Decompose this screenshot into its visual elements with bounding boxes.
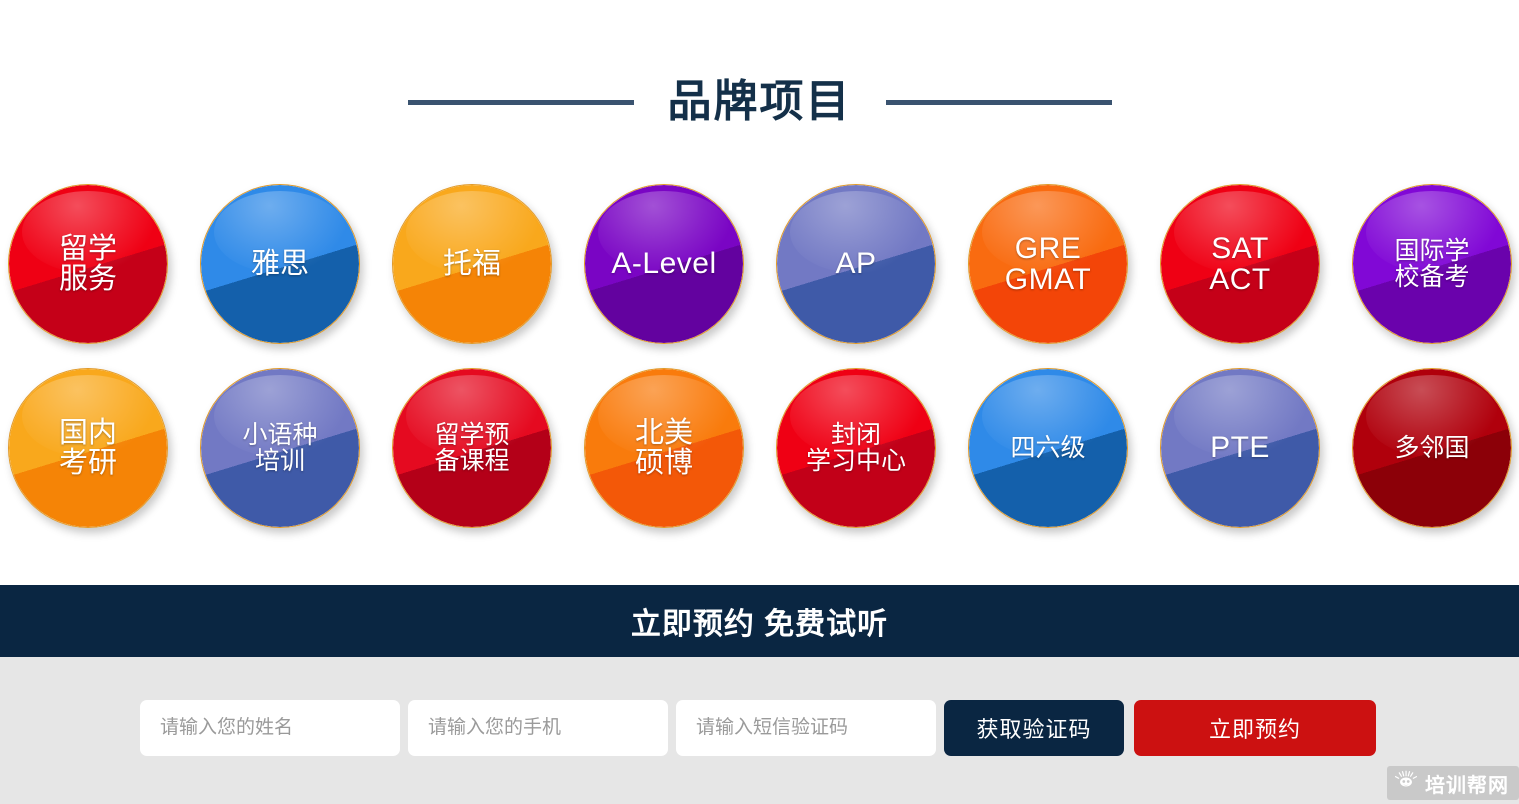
program-bubble-duolingo[interactable]: 多邻国 <box>1352 368 1512 528</box>
submit-appointment-button[interactable]: 立即预约 <box>1134 700 1376 756</box>
program-row-1: 留学 服务 雅思 托福 A-Level AP <box>8 184 1519 368</box>
title-rule-left <box>408 100 634 105</box>
program-label: 多邻国 <box>1388 435 1475 461</box>
program-circle-grid: 留学 服务 雅思 托福 A-Level AP <box>8 184 1519 552</box>
sms-code-input[interactable] <box>676 700 936 756</box>
title-rule-right <box>886 100 1112 105</box>
program-bubble-gre-gmat[interactable]: GRE GMAT <box>968 184 1128 344</box>
program-label: 托福 <box>437 249 507 279</box>
brand-programs-page: 品牌项目 留学 服务 雅思 托福 A-Level <box>0 0 1519 804</box>
program-bubble-cet-4-6[interactable]: 四六级 <box>968 368 1128 528</box>
program-bubble-pte[interactable]: PTE <box>1160 368 1320 528</box>
program-bubble-north-america-master-phd[interactable]: 北美 硕博 <box>584 368 744 528</box>
program-label: 雅思 <box>245 249 315 279</box>
program-bubble-toefl[interactable]: 托福 <box>392 184 552 344</box>
program-bubble-ap[interactable]: AP <box>776 184 936 344</box>
program-bubble-minor-language-training[interactable]: 小语种 培训 <box>200 368 360 528</box>
program-bubble-a-level[interactable]: A-Level <box>584 184 744 344</box>
program-label: AP <box>829 248 882 279</box>
page-title: 品牌项目 <box>668 80 852 124</box>
program-row-2: 国内 考研 小语种 培训 留学预 备课程 北美 硕博 封闭 学习中心 <box>8 368 1519 552</box>
program-label: PTE <box>1204 432 1276 463</box>
program-label: 留学 服务 <box>53 234 123 294</box>
sun-face-icon <box>1395 770 1417 797</box>
program-label: 国际学 校备考 <box>1388 238 1475 290</box>
program-bubble-sat-act[interactable]: SAT ACT <box>1160 184 1320 344</box>
cta-banner-text: 立即预约 免费试听 <box>631 599 888 643</box>
program-label: A-Level <box>605 248 722 279</box>
program-bubble-ielts[interactable]: 雅思 <box>200 184 360 344</box>
program-label: GRE GMAT <box>999 233 1097 295</box>
program-bubble-study-abroad-prep-course[interactable]: 留学预 备课程 <box>392 368 552 528</box>
program-label: 国内 考研 <box>53 418 123 478</box>
program-bubble-domestic-postgrad-exam[interactable]: 国内 考研 <box>8 368 168 528</box>
program-label: SAT ACT <box>1203 233 1277 295</box>
watermark: 培训帮网 <box>1387 766 1519 800</box>
appointment-form: 获取验证码 立即预约 <box>140 700 1376 756</box>
phone-input[interactable] <box>408 700 668 756</box>
get-verification-code-button[interactable]: 获取验证码 <box>944 700 1124 756</box>
name-input[interactable] <box>140 700 400 756</box>
program-label: 北美 硕博 <box>629 418 699 478</box>
section-title-row: 品牌项目 <box>0 68 1519 136</box>
appointment-form-strip: 获取验证码 立即预约 <box>0 657 1519 804</box>
cta-banner: 立即预约 免费试听 <box>0 585 1519 657</box>
watermark-text: 培训帮网 <box>1425 769 1509 798</box>
program-label: 封闭 学习中心 <box>800 422 912 474</box>
program-label: 小语种 培训 <box>236 422 323 474</box>
program-bubble-international-school-prep[interactable]: 国际学 校备考 <box>1352 184 1512 344</box>
program-bubble-closed-study-center[interactable]: 封闭 学习中心 <box>776 368 936 528</box>
program-label: 留学预 备课程 <box>428 422 515 474</box>
program-bubble-study-abroad-service[interactable]: 留学 服务 <box>8 184 168 344</box>
program-label: 四六级 <box>1004 435 1091 461</box>
